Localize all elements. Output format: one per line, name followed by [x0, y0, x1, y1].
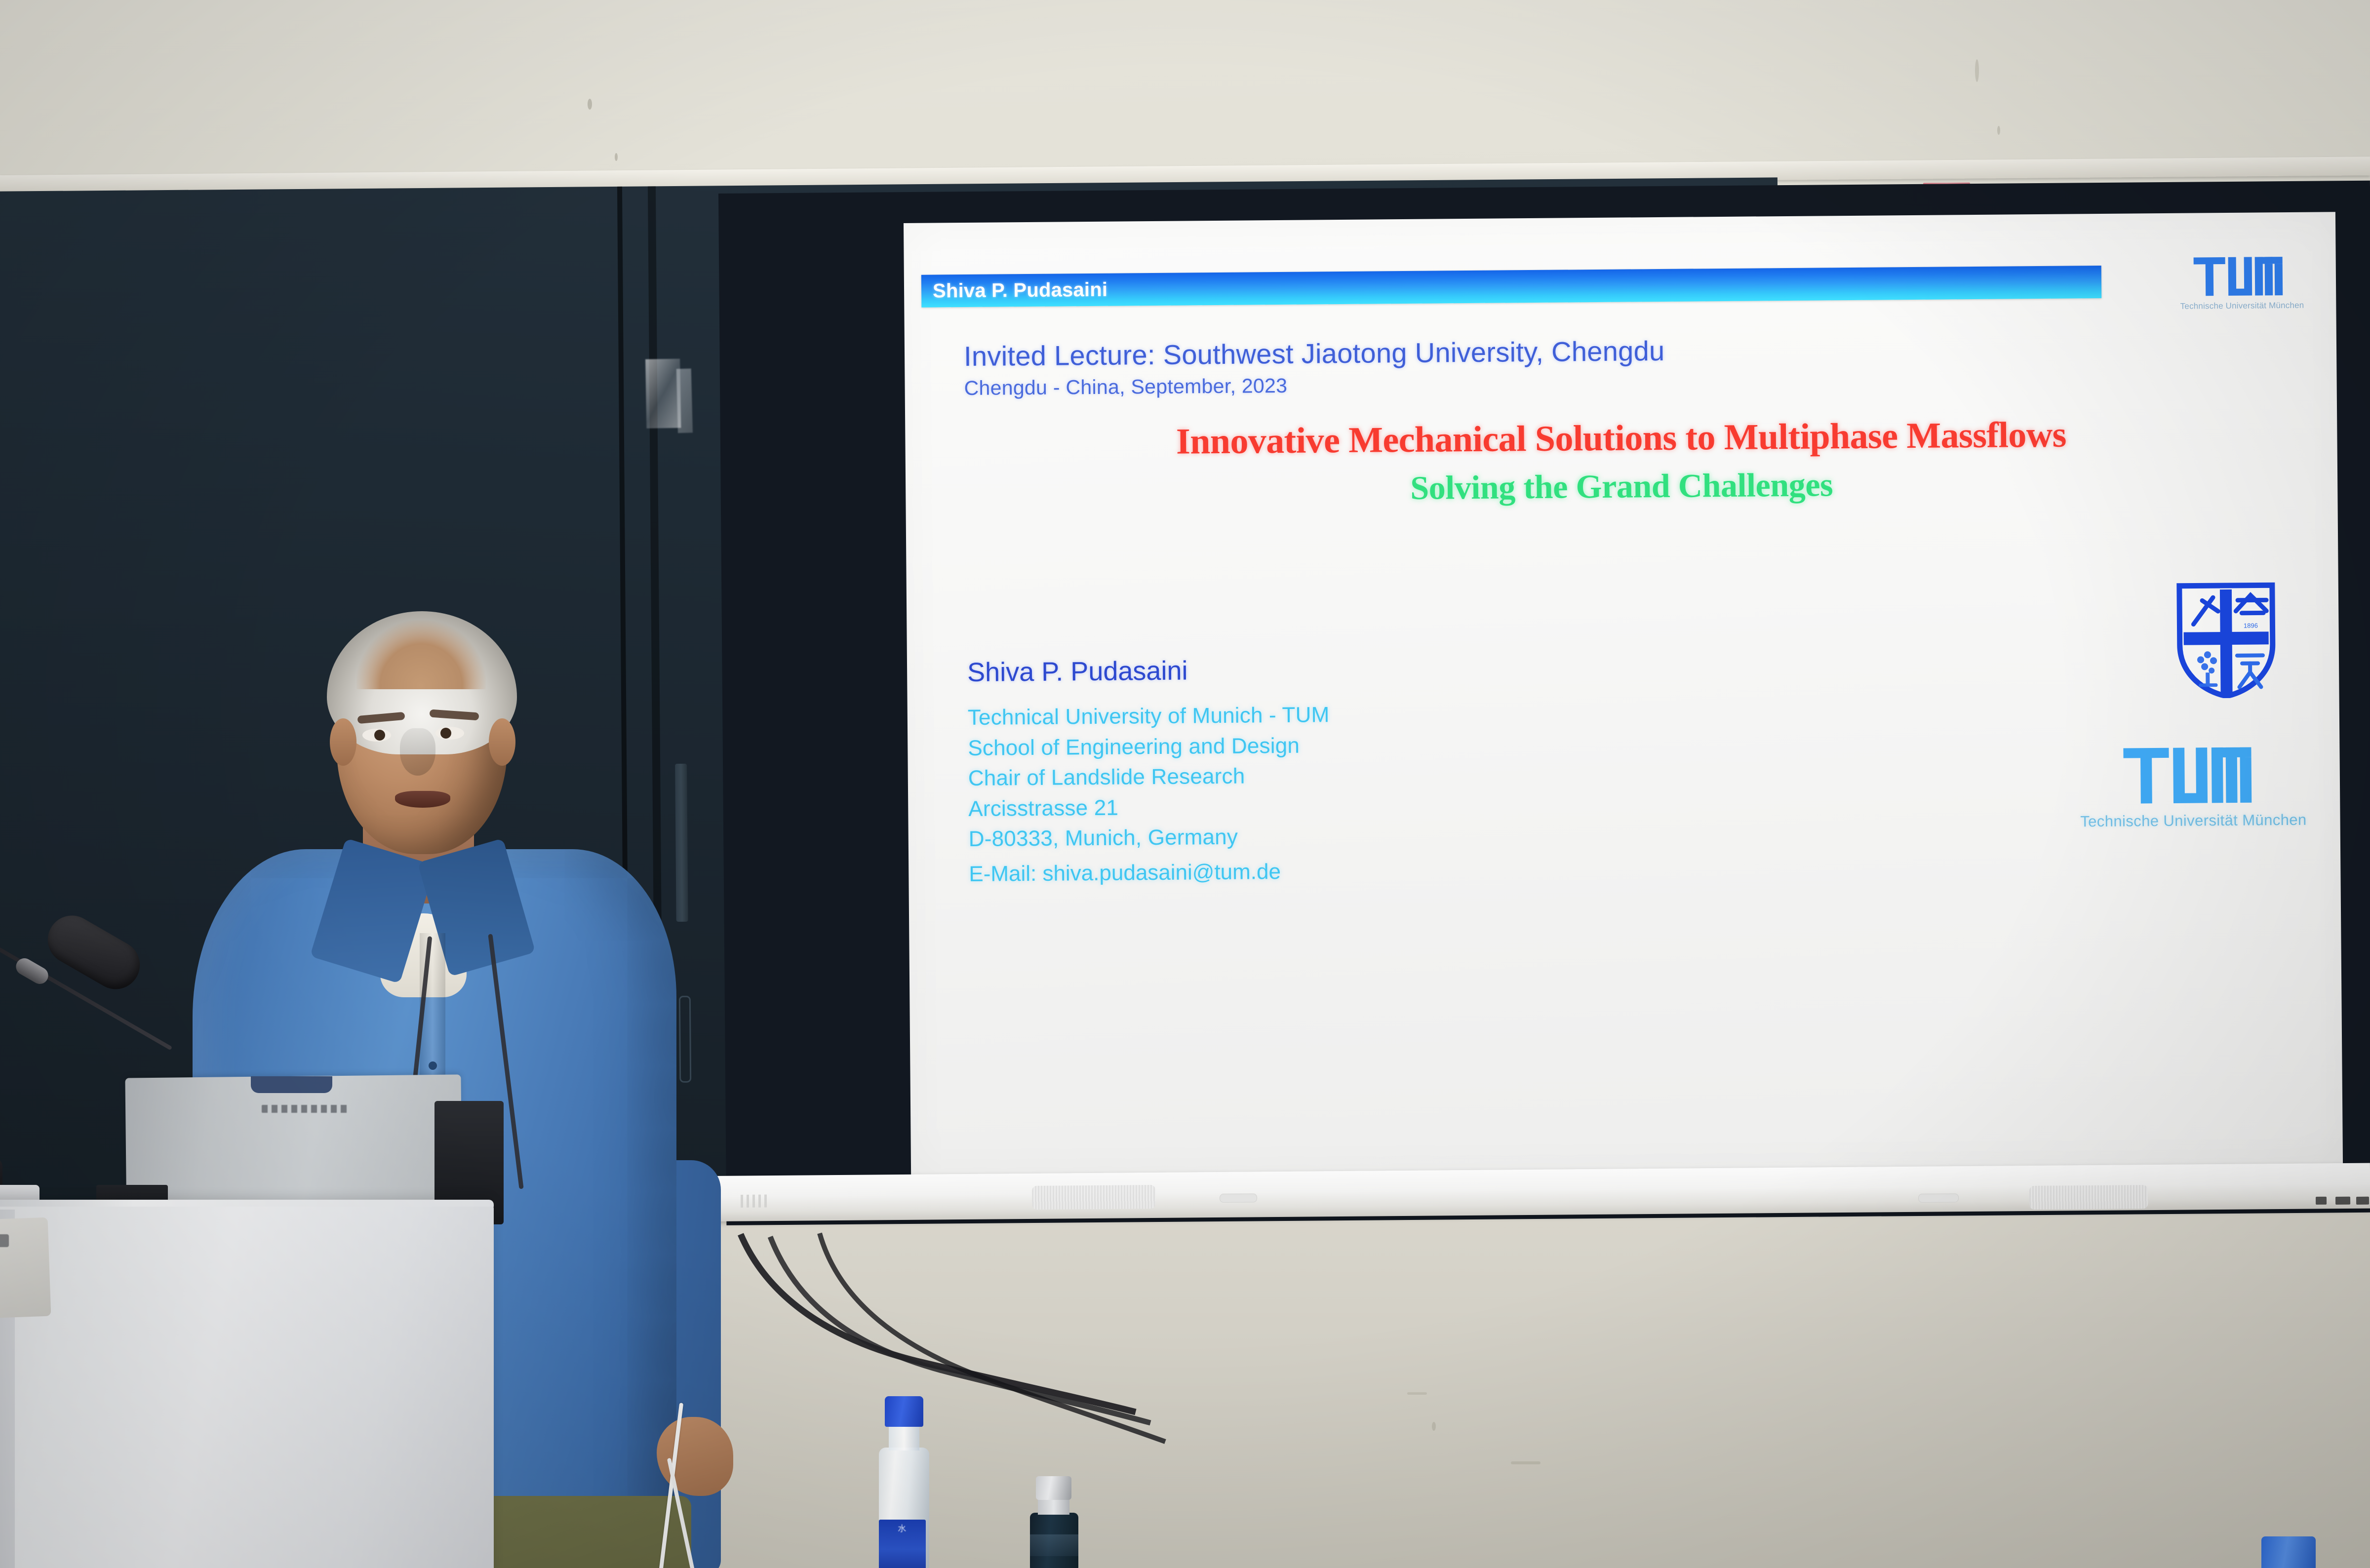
dark-drink-bottle — [1022, 1476, 1086, 1568]
control-pad-icon — [0, 1234, 9, 1247]
speaker-eye-right — [435, 727, 464, 740]
lecture-hall-scene: Shiva P. Pudasaini Technische Universitä… — [0, 0, 2370, 1568]
lectern-control-pad[interactable] — [0, 1217, 51, 1321]
water-bottle: 水 — [869, 1396, 938, 1568]
speaker-trousers — [479, 1496, 691, 1568]
bottle-label-text: 水 — [881, 1524, 923, 1534]
speaker-ear-right — [489, 718, 515, 766]
speaker-mouth — [395, 791, 450, 808]
bottle-cap — [885, 1396, 923, 1427]
speaker-nose — [400, 728, 435, 776]
laptop-notch — [251, 1076, 332, 1093]
lectern — [0, 1200, 494, 1568]
blue-bottle-edge — [2261, 1536, 2316, 1568]
speaker-forehead — [356, 620, 486, 689]
speaker-eye-left — [362, 729, 391, 742]
bottle-cap — [1036, 1476, 1071, 1500]
speaker-ear-left — [330, 718, 356, 766]
laptop-brand-logo — [262, 1105, 351, 1113]
lectern-top-edge — [0, 1200, 494, 1207]
